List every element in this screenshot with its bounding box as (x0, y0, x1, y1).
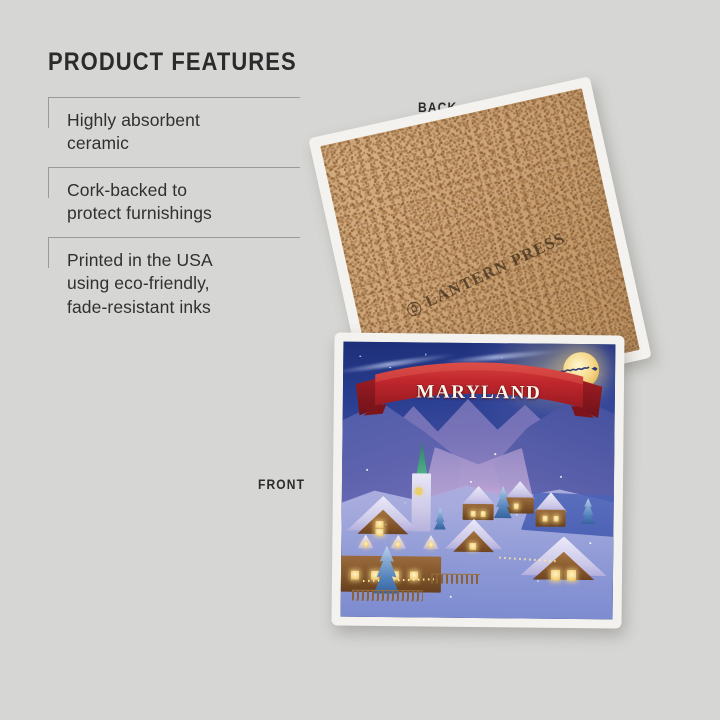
snowflake (560, 476, 562, 478)
callout-label-front: FRONT (258, 476, 305, 492)
dormer (390, 535, 406, 549)
snowflake (470, 480, 472, 482)
roof (505, 481, 535, 499)
feature-text: Highly absorbent ceramic (67, 109, 300, 155)
roof (461, 486, 495, 505)
chalet-right-large (520, 536, 607, 607)
window-light (553, 516, 558, 522)
window-light (396, 542, 401, 547)
banner-state-name: MARYLAND (354, 380, 604, 405)
window-light (514, 503, 519, 509)
snowflake (589, 542, 591, 544)
chalet-center (444, 519, 503, 574)
brand-mark: LANTERN PRESS (403, 228, 569, 321)
church-spire (416, 441, 427, 475)
state-banner: MARYLAND (353, 358, 604, 435)
chalet-background (505, 481, 535, 513)
feature-item-cork-backed: Cork-backed to protect furnishings (48, 167, 300, 237)
snowflake (495, 453, 497, 455)
dormer (358, 534, 374, 548)
chalet-background (461, 486, 495, 520)
window-light (543, 516, 548, 522)
window-light (567, 570, 576, 581)
page-title: PRODUCT FEATURES (48, 48, 270, 77)
window-light (351, 570, 359, 579)
window-light (481, 511, 486, 517)
window-light (469, 543, 476, 550)
dormer (423, 535, 439, 549)
feature-item-printed-usa: Printed in the USA using eco-friendly, f… (48, 237, 300, 330)
fence (431, 574, 480, 585)
snowflake (450, 596, 452, 598)
lantern-icon (404, 298, 424, 318)
window-light (376, 529, 384, 536)
brand-name: LANTERN PRESS (422, 228, 569, 312)
coaster-artwork: MARYLAND (341, 342, 616, 620)
window-light (551, 570, 560, 581)
window-light (363, 542, 368, 547)
product-image-canvas: PRODUCT FEATURES Highly absorbent cerami… (0, 0, 720, 720)
wall (506, 497, 534, 513)
wall (463, 504, 494, 521)
window-light (428, 542, 433, 547)
feature-text: Printed in the USA using eco-friendly, f… (67, 249, 300, 318)
chalet-background (535, 492, 567, 526)
feature-item-absorbent: Highly absorbent ceramic (48, 97, 300, 167)
feature-text: Cork-backed to protect furnishings (67, 179, 300, 225)
fence (352, 589, 423, 601)
wall (536, 510, 566, 527)
window-light (471, 511, 476, 517)
window-light (376, 521, 384, 528)
product-features-panel: PRODUCT FEATURES Highly absorbent cerami… (48, 48, 300, 331)
coaster-front[interactable]: MARYLAND (331, 332, 624, 628)
roof (535, 492, 567, 511)
